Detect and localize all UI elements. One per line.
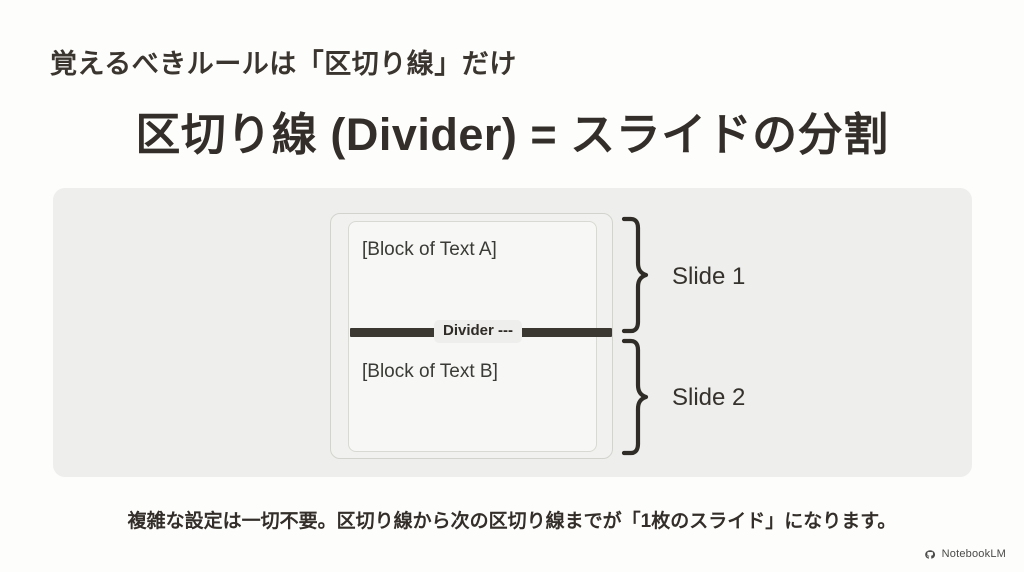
slide-subtitle: 覚えるべきルールは「区切り線」だけ	[50, 42, 517, 81]
notebooklm-logo-icon	[924, 549, 937, 560]
slide-title: 区切り線 (Divider) = スライドの分割	[0, 98, 1024, 163]
curly-brace-icon-slide-1	[620, 216, 650, 334]
slide-group-label-1: Slide 1	[672, 263, 745, 291]
curly-brace-icon-slide-2	[620, 338, 650, 456]
text-block-b: [Block of Text B]	[362, 361, 498, 383]
slide-canvas: 覚えるべきルールは「区切り線」だけ 区切り線 (Divider) = スライドの…	[0, 0, 1024, 572]
watermark: NotebookLM	[924, 548, 1006, 560]
divider-label: Divider ---	[434, 320, 522, 343]
watermark-label: NotebookLM	[942, 548, 1006, 560]
slide-caption: 複雑な設定は一切不要。区切り線から次の区切り線までが「1枚のスライド」になります…	[0, 506, 1024, 533]
slide-group-label-2: Slide 2	[672, 384, 745, 412]
text-block-a: [Block of Text A]	[362, 239, 497, 261]
